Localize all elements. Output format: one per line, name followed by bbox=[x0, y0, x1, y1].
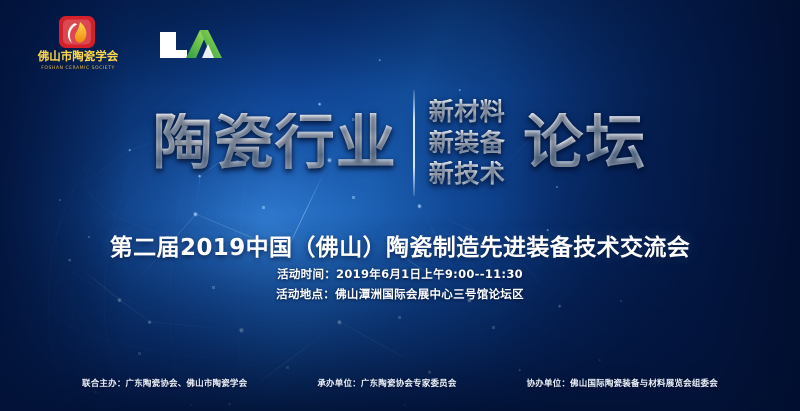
event-location: 活动地点：佛山潭洲国际会展中心三号馆论坛区 bbox=[0, 284, 800, 304]
keyword-new-equipment: 新装备 bbox=[429, 130, 506, 156]
headline-keyword-stack: 新材料 新装备 新技术 bbox=[429, 99, 506, 187]
footer-co-organizers: 联合主办：广东陶瓷协会、佛山市陶瓷学会 bbox=[82, 377, 247, 389]
keyword-new-technology: 新技术 bbox=[429, 161, 506, 187]
footer-host-unit: 承办单位：广东陶瓷协会专家委员会 bbox=[317, 377, 456, 389]
logo-row: 佛山市陶瓷学会 FOSHAN CERAMIC SOCIETY bbox=[26, 14, 234, 74]
foshan-ceramic-society-logo: 佛山市陶瓷学会 FOSHAN CERAMIC SOCIETY bbox=[26, 14, 130, 74]
event-subtitle: 第二届2019中国（佛山）陶瓷制造先进装备技术交流会 bbox=[0, 228, 800, 262]
logo-cn-name: 佛山市陶瓷学会 bbox=[37, 49, 119, 63]
headline-left-text: 陶瓷行业 bbox=[153, 113, 397, 173]
footer-support-unit: 协办单位：佛山国际陶瓷装备与材料展览会组委会 bbox=[527, 377, 718, 389]
headline-right-text: 论坛 bbox=[523, 113, 647, 173]
cna-logo: CNA bbox=[156, 24, 234, 64]
keyword-new-materials: 新材料 bbox=[429, 99, 506, 125]
event-info: 活动时间：2019年6月1日上午9:00--11:30 活动地点：佛山潭洲国际会… bbox=[0, 264, 800, 304]
logo-en-name: FOSHAN CERAMIC SOCIETY bbox=[41, 65, 115, 71]
organizer-footer: 联合主办：广东陶瓷协会、佛山市陶瓷学会 承办单位：广东陶瓷协会专家委员会 协办单… bbox=[0, 377, 800, 389]
poster-canvas: 佛山市陶瓷学会 FOSHAN CERAMIC SOCIETY bbox=[0, 0, 800, 411]
headline-divider bbox=[413, 90, 415, 196]
event-time: 活动时间：2019年6月1日上午9:00--11:30 bbox=[0, 264, 800, 284]
main-headline: 陶瓷行业 新材料 新装备 新技术 论坛 bbox=[0, 88, 800, 198]
